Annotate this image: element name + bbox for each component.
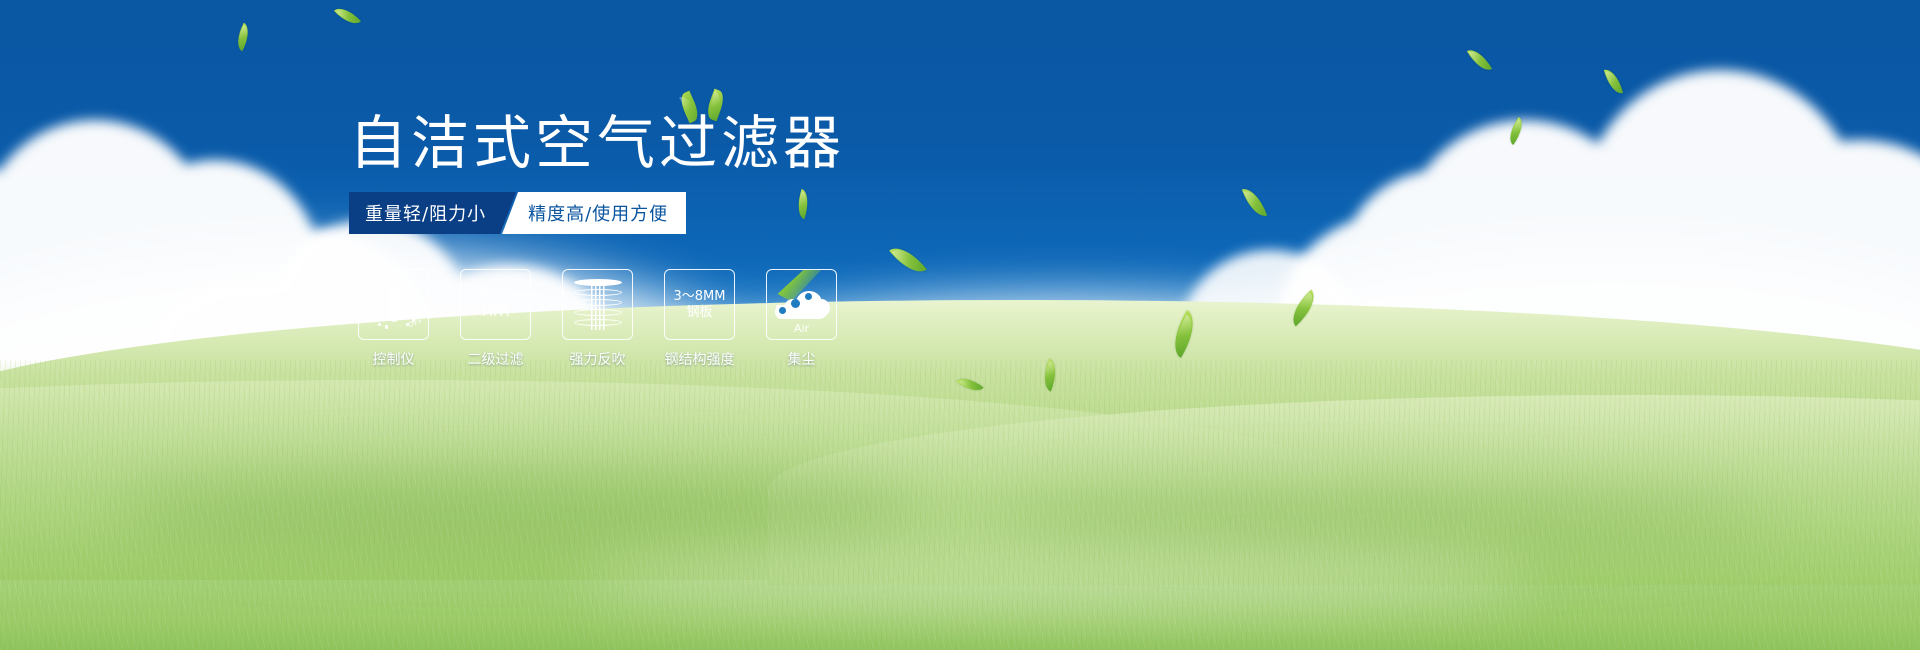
feature-icon-box: 0.6～0.8 MPA <box>460 269 531 340</box>
dial-on-label: NO <box>363 302 375 310</box>
steel-line-2: 钢板 <box>674 305 726 321</box>
steel-line-1: 3～8MM <box>674 289 726 305</box>
tag-precision[interactable]: 精度高/使用方便 <box>502 192 686 234</box>
backblow-filter-icon <box>574 278 622 332</box>
pressure-line-1: 0.6～0.8 <box>468 289 522 305</box>
hero-banner: 自洁式空气过滤器 重量轻/阻力小 精度高/使用方便 <box>0 0 1920 650</box>
pressure-value-icon: 0.6～0.8 MPA <box>468 289 522 321</box>
feature-label: 强力反吹 <box>570 349 626 369</box>
dial-knob <box>389 285 399 322</box>
feature-label: 钢结构强度 <box>665 349 735 369</box>
feature-label: 集尘 <box>788 349 816 369</box>
feature-icon-box <box>562 269 633 340</box>
feature-item-controller[interactable]: NO OFF 控制仪 <box>357 269 430 369</box>
feature-item-backblow[interactable]: 强力反吹 <box>561 269 634 369</box>
feature-item-steel[interactable]: 3～8MM 钢板 钢结构强度 <box>663 269 736 369</box>
air-label: Air <box>772 322 832 335</box>
feature-item-dust[interactable]: Air 集尘 <box>765 269 838 369</box>
feature-icon-box: 3～8MM 钢板 <box>664 269 735 340</box>
dial-off-label: OFF <box>407 316 424 329</box>
steel-plate-icon: 3～8MM 钢板 <box>674 289 726 321</box>
leaf-right-icon <box>704 89 726 122</box>
control-dial-icon: NO OFF <box>365 276 423 334</box>
feature-list: NO OFF 控制仪 0.6～0.8 MPA 二级过滤 <box>357 269 838 369</box>
pressure-line-2: MPA <box>468 305 522 321</box>
tag-lightweight[interactable]: 重量轻/阻力小 <box>349 192 516 234</box>
feature-icon-box: Air <box>766 269 837 340</box>
feature-item-filtration[interactable]: 0.6～0.8 MPA 二级过滤 <box>459 269 532 369</box>
feature-icon-box: NO OFF <box>358 269 429 340</box>
tag-list: 重量轻/阻力小 精度高/使用方便 <box>349 192 686 234</box>
feature-label: 控制仪 <box>373 349 415 369</box>
two-leaves-icon <box>683 88 733 126</box>
feature-label: 二级过滤 <box>468 349 524 369</box>
air-cloud-icon: Air <box>772 277 832 333</box>
banner-content: 自洁式空气过滤器 重量轻/阻力小 精度高/使用方便 <box>0 0 1920 650</box>
page-title: 自洁式空气过滤器 <box>349 112 845 174</box>
